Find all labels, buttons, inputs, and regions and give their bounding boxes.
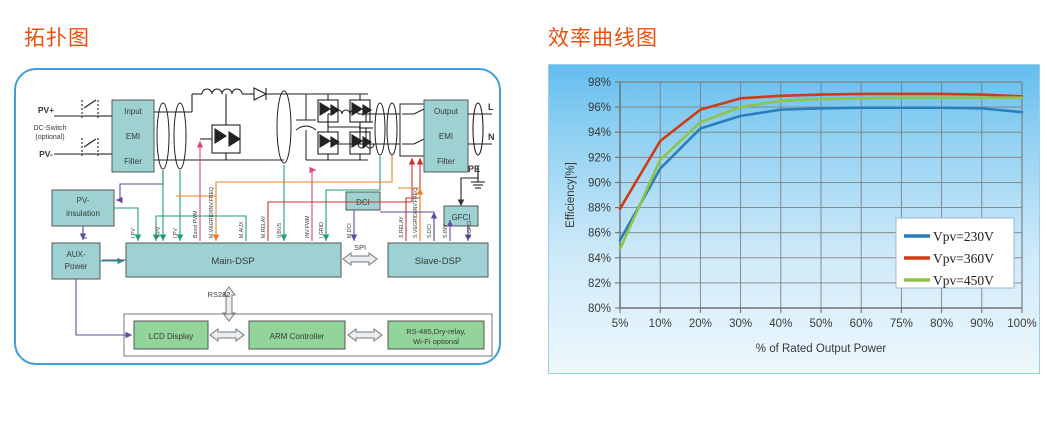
legend-item-label: Vpv=360V	[933, 251, 994, 266]
signal-label-7: I.GRID	[319, 222, 325, 238]
x-tick-label: 75%	[890, 318, 913, 330]
topology-schematic: PV+ PV- DC-Switch (optional) Input EMI F…	[16, 70, 499, 363]
comms-line2: Wi-Fi optional	[413, 337, 459, 346]
signal-label-9: M.V&GRID/INV.FREQ	[209, 187, 215, 238]
input-current-sensors	[154, 103, 192, 169]
x-tick-label: 100%	[1007, 318, 1036, 330]
x-tick-label: 40%	[769, 318, 792, 330]
terminal-line: L	[488, 102, 494, 112]
chart-legend: Vpv=230VVpv=360VVpv=450V	[896, 218, 1014, 288]
x-tick-label: 50%	[809, 318, 832, 330]
chart-x-tick-labels: 5%10%20%30%40%50%60%75%80%90%100%	[612, 318, 1037, 330]
dc-switch-optional-note: (optional)	[35, 134, 64, 141]
legend-item-label: Vpv=230V	[933, 229, 994, 244]
signal-label-12: S.RELAY	[399, 216, 405, 238]
output-emi-filter-line3: Filter	[437, 157, 455, 166]
signal-label-1: I.PV	[131, 228, 137, 238]
signal-label-14: S.DCI	[427, 224, 433, 238]
terminal-pv-minus: PV-	[39, 149, 53, 159]
y-tick-label: 90%	[588, 177, 611, 189]
spi-bus-arrow	[343, 253, 377, 265]
topology-section-title: 拓扑图	[24, 22, 90, 52]
output-emi-filter-line2: EMI	[439, 132, 453, 141]
y-tick-label: 82%	[588, 278, 611, 290]
signal-label-10: M.AUX	[239, 221, 245, 238]
topology-diagram-panel: PV+ PV- DC-Switch (optional) Input EMI F…	[14, 68, 501, 365]
rs232-bus-label: RS232	[208, 290, 231, 299]
slave-dsp-label: Slave-DSP	[415, 256, 461, 267]
dc-switch-label: DC-Switch	[33, 125, 66, 132]
y-tick-label: 84%	[588, 253, 611, 265]
comms-line1: RS-485,Dry-relay,	[406, 327, 465, 336]
signal-label-5: V.BUS	[277, 222, 283, 238]
x-tick-label: 60%	[850, 318, 873, 330]
output-emi-filter-group: Output EMI Filter	[424, 100, 468, 172]
efficiency-chart: 80%82%84%86%88%90%92%94%96%98% 5%10%20%3…	[552, 68, 1038, 372]
chart-x-axis-label: % of Rated Output Power	[756, 343, 887, 355]
gfci-label: GFCI	[451, 213, 470, 222]
x-tick-label: 90%	[970, 318, 993, 330]
input-emi-filter-line2: EMI	[126, 132, 140, 141]
y-tick-label: 94%	[588, 127, 611, 139]
efficiency-section-title: 效率曲线图	[548, 22, 658, 52]
y-tick-label: 86%	[588, 228, 611, 240]
y-tick-label: 88%	[588, 203, 611, 215]
terminal-pv-plus: PV+	[38, 105, 54, 115]
y-tick-label: 98%	[588, 77, 611, 89]
aux-power-line2: Power	[65, 262, 88, 271]
lcd-display-label: LCD Display	[149, 332, 193, 341]
signal-label-4: Boost PWM	[193, 211, 199, 238]
terminal-neutral: N	[488, 132, 495, 142]
aux-power-line1: AUX-	[66, 250, 85, 259]
signal-label-13: S.V&GRID/INV.FREQ	[413, 188, 419, 238]
spi-bus-label: SPI	[354, 243, 366, 252]
input-emi-filter-line1: Input	[124, 107, 143, 116]
x-tick-label: 5%	[612, 318, 629, 330]
output-emi-filter-line1: Output	[434, 107, 459, 116]
arm-comms-arrow	[348, 329, 382, 341]
arm-controller-label: ARM Controller	[270, 332, 325, 341]
pv-insulation-line2: insulation	[66, 209, 100, 218]
lcd-arm-arrow	[210, 329, 244, 341]
boost-converter-stage	[192, 88, 284, 160]
x-tick-label: 30%	[729, 318, 752, 330]
page-root: 拓扑图 效率曲线图	[0, 0, 1047, 424]
y-tick-label: 96%	[588, 102, 611, 114]
pv-insulation-line1: PV-	[77, 196, 90, 205]
signal-label-15: S.INV	[443, 224, 449, 238]
main-dsp-label: Main-DSP	[211, 256, 254, 267]
signal-label-16: S.GFCI	[467, 221, 473, 238]
efficiency-chart-panel: 80%82%84%86%88%90%92%94%96%98% 5%10%20%3…	[548, 64, 1040, 374]
x-tick-label: 80%	[930, 318, 953, 330]
x-tick-label: 10%	[649, 318, 672, 330]
x-tick-label: 20%	[689, 318, 712, 330]
aux-power-block	[52, 243, 100, 279]
signal-label-2: V.PV	[156, 226, 162, 238]
y-tick-label: 80%	[588, 303, 611, 315]
signal-label-6: INV.PWM	[305, 216, 311, 238]
signal-label-3: I.PV	[173, 228, 179, 238]
signal-label-11: M.RELAY	[261, 215, 267, 238]
dc-bus-sense-and-cap	[271, 91, 316, 163]
h-bridge-inverter	[306, 94, 371, 160]
signal-label-8: M.DCI	[347, 223, 353, 238]
chart-y-axis-label: Efficiency[%]	[565, 162, 577, 228]
input-emi-filter-line3: Filter	[124, 157, 142, 166]
y-tick-label: 92%	[588, 152, 611, 164]
chart-y-tick-labels: 80%82%84%86%88%90%92%94%96%98%	[588, 77, 611, 315]
ac-output-wiring	[468, 103, 492, 188]
legend-item-label: Vpv=450V	[933, 273, 994, 288]
